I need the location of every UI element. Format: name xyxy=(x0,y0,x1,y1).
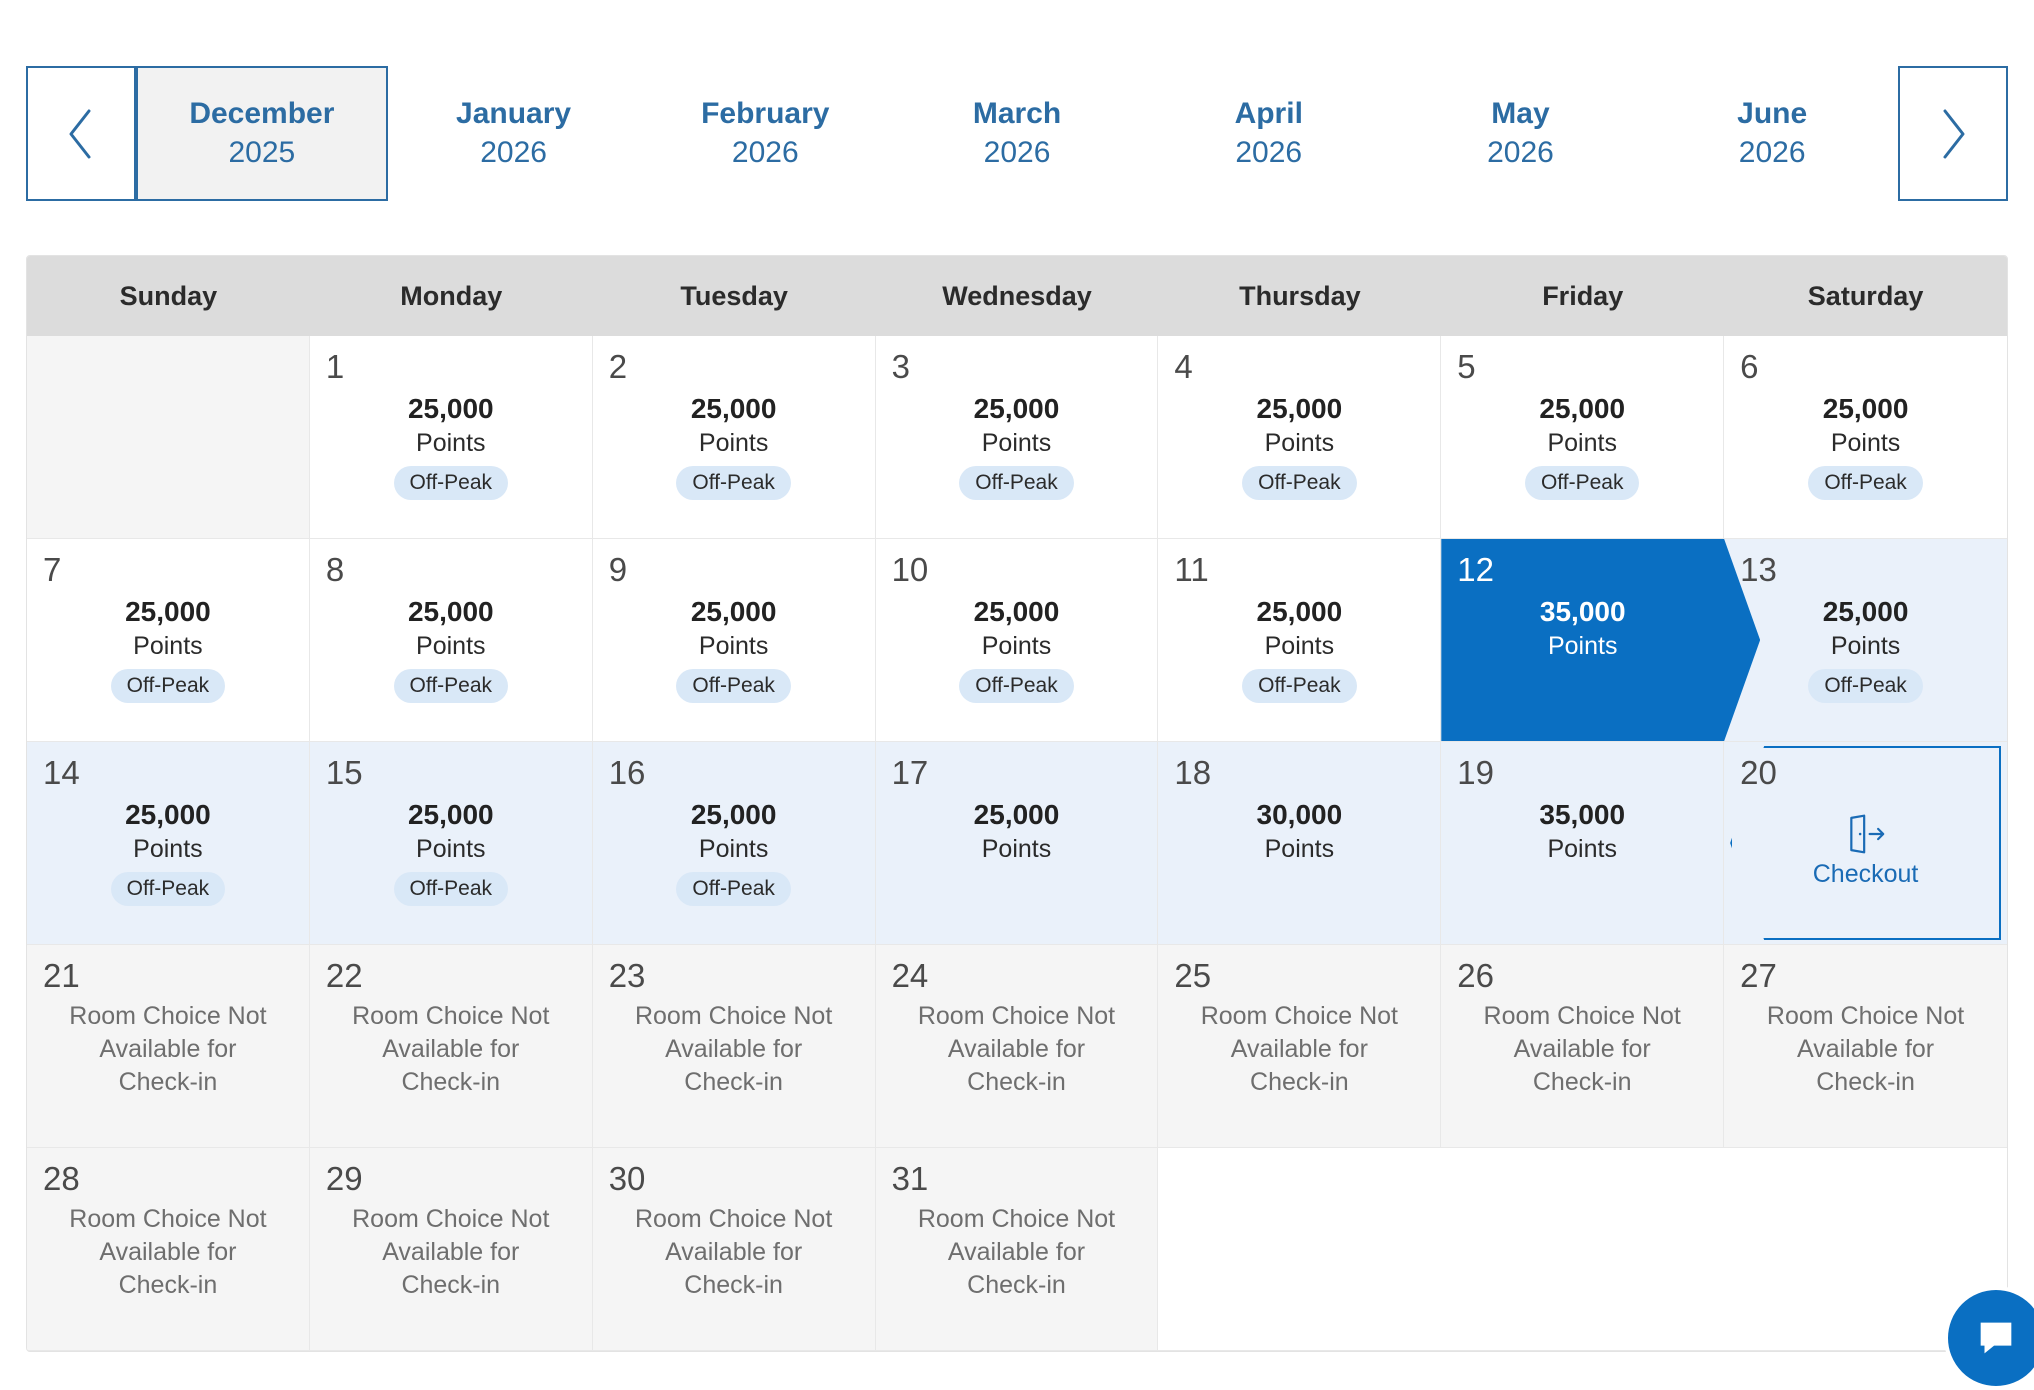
unavailable-message: Room Choice Not Available for Check-in xyxy=(326,1000,576,1099)
month-tab-name: January xyxy=(456,95,571,133)
points-label: Points xyxy=(1265,427,1334,460)
day-cell-8[interactable]: 825,000PointsOff-Peak xyxy=(310,539,593,742)
day-cell-24: 24Room Choice Not Available for Check-in xyxy=(876,945,1159,1148)
day-number: 7 xyxy=(43,553,61,586)
day-cell-5[interactable]: 525,000PointsOff-Peak xyxy=(1441,336,1724,539)
checkout-details: Checkout xyxy=(1740,775,1991,926)
chevron-right-icon xyxy=(1936,107,1970,161)
day-details: 25,000PointsOff-Peak xyxy=(43,789,293,926)
unavailable-message: Room Choice Not Available for Check-in xyxy=(43,1000,293,1099)
day-details: Room Choice Not Available for Check-in xyxy=(1740,992,1991,1129)
unavailable-message: Room Choice Not Available for Check-in xyxy=(1174,1000,1424,1099)
points-label: Points xyxy=(1831,630,1900,663)
off-peak-badge: Off-Peak xyxy=(394,669,508,703)
day-cell-29: 29Room Choice Not Available for Check-in xyxy=(310,1148,593,1351)
day-cell-22: 22Room Choice Not Available for Check-in xyxy=(310,945,593,1148)
month-tab-name: February xyxy=(701,95,829,133)
day-cell-18[interactable]: 1830,000Points xyxy=(1158,742,1441,945)
day-details: Room Choice Not Available for Check-in xyxy=(1457,992,1707,1129)
points-label: Points xyxy=(1265,833,1334,866)
points-value: 25,000 xyxy=(691,594,777,630)
day-number: 29 xyxy=(326,1162,363,1195)
points-label: Points xyxy=(416,630,485,663)
weekday-header-monday: Monday xyxy=(310,256,593,336)
points-label: Points xyxy=(133,833,202,866)
points-label: Points xyxy=(699,630,768,663)
month-tab-year: 2026 xyxy=(984,134,1051,172)
points-value: 25,000 xyxy=(125,797,211,833)
day-number: 9 xyxy=(609,553,627,586)
checkout-door-icon xyxy=(1844,812,1888,856)
day-cell-10[interactable]: 1025,000PointsOff-Peak xyxy=(876,539,1159,742)
day-cell-11[interactable]: 1125,000PointsOff-Peak xyxy=(1158,539,1441,742)
day-number: 17 xyxy=(892,756,929,789)
weekday-header-tuesday: Tuesday xyxy=(593,256,876,336)
points-label: Points xyxy=(1265,630,1334,663)
day-cell-21: 21Room Choice Not Available for Check-in xyxy=(27,945,310,1148)
day-number: 21 xyxy=(43,959,80,992)
points-value: 25,000 xyxy=(1257,594,1343,630)
day-number: 16 xyxy=(609,756,646,789)
month-tab-name: March xyxy=(973,95,1061,133)
points-label: Points xyxy=(133,630,202,663)
day-number: 15 xyxy=(326,756,363,789)
points-value: 25,000 xyxy=(1257,391,1343,427)
day-cell-31: 31Room Choice Not Available for Check-in xyxy=(876,1148,1159,1351)
points-label: Points xyxy=(982,630,1051,663)
month-tab-year: 2026 xyxy=(732,134,799,172)
points-value: 25,000 xyxy=(408,797,494,833)
points-label: Points xyxy=(416,833,485,866)
day-details: Room Choice Not Available for Check-in xyxy=(326,1195,576,1332)
day-number: 22 xyxy=(326,959,363,992)
day-cell-23: 23Room Choice Not Available for Check-in xyxy=(593,945,876,1148)
unavailable-message: Room Choice Not Available for Check-in xyxy=(609,1203,859,1302)
month-tab-february-2026[interactable]: February2026 xyxy=(639,66,891,201)
off-peak-badge: Off-Peak xyxy=(1242,466,1356,500)
off-peak-badge: Off-Peak xyxy=(111,872,225,906)
month-tab-march-2026[interactable]: March2026 xyxy=(891,66,1143,201)
day-details: Room Choice Not Available for Check-in xyxy=(1174,992,1424,1129)
day-number: 19 xyxy=(1457,756,1494,789)
off-peak-badge: Off-Peak xyxy=(1808,669,1922,703)
points-label: Points xyxy=(1831,427,1900,460)
month-tab-year: 2026 xyxy=(480,134,547,172)
day-details: 25,000PointsOff-Peak xyxy=(609,383,859,520)
day-number: 18 xyxy=(1174,756,1211,789)
day-cell-empty xyxy=(27,336,310,539)
weekday-header-friday: Friday xyxy=(1441,256,1724,336)
day-cell-3[interactable]: 325,000PointsOff-Peak xyxy=(876,336,1159,539)
day-cell-2[interactable]: 225,000PointsOff-Peak xyxy=(593,336,876,539)
day-number: 11 xyxy=(1174,553,1208,586)
weekday-header-saturday: Saturday xyxy=(1724,256,2007,336)
day-number: 12 xyxy=(1457,553,1494,586)
checkout-content: 20Checkout xyxy=(1724,742,2007,944)
day-cell-15[interactable]: 1525,000PointsOff-Peak xyxy=(310,742,593,945)
calendar-week-row: 21Room Choice Not Available for Check-in… xyxy=(27,945,2007,1148)
points-value: 35,000 xyxy=(1540,594,1626,630)
off-peak-badge: Off-Peak xyxy=(676,466,790,500)
availability-calendar: SundayMondayTuesdayWednesdayThursdayFrid… xyxy=(26,255,2008,1352)
off-peak-badge: Off-Peak xyxy=(676,669,790,703)
day-cell-20[interactable]: 20Checkout xyxy=(1724,742,2007,945)
day-details: Room Choice Not Available for Check-in xyxy=(43,992,293,1129)
day-cell-28: 28Room Choice Not Available for Check-in xyxy=(27,1148,310,1351)
chat-launcher-button[interactable] xyxy=(1944,1286,2034,1390)
day-details: Room Choice Not Available for Check-in xyxy=(326,992,576,1129)
day-cell-27: 27Room Choice Not Available for Check-in xyxy=(1724,945,2007,1148)
month-tab-year: 2025 xyxy=(228,134,295,172)
day-details: 25,000PointsOff-Peak xyxy=(1740,586,1991,723)
calendar-week-row: 1425,000PointsOff-Peak1525,000PointsOff-… xyxy=(27,742,2007,945)
points-value: 25,000 xyxy=(691,391,777,427)
day-details: Room Choice Not Available for Check-in xyxy=(892,992,1142,1129)
chevron-left-icon xyxy=(64,107,98,161)
points-value: 25,000 xyxy=(1539,391,1625,427)
day-details: 25,000PointsOff-Peak xyxy=(609,789,859,926)
month-tab-year: 2026 xyxy=(1739,134,1806,172)
day-details: 25,000PointsOff-Peak xyxy=(43,586,293,723)
day-number: 23 xyxy=(609,959,646,992)
day-details: 25,000PointsOff-Peak xyxy=(1174,586,1424,723)
day-details: 25,000PointsOff-Peak xyxy=(609,586,859,723)
day-cell-30: 30Room Choice Not Available for Check-in xyxy=(593,1148,876,1351)
checkout-label: Checkout xyxy=(1813,860,1919,889)
month-tab-list: December2025January2026February2026March… xyxy=(136,66,1898,201)
off-peak-badge: Off-Peak xyxy=(959,466,1073,500)
off-peak-badge: Off-Peak xyxy=(394,466,508,500)
day-cell-26: 26Room Choice Not Available for Check-in xyxy=(1441,945,1724,1148)
weekday-header-thursday: Thursday xyxy=(1158,256,1441,336)
day-details: 25,000PointsOff-Peak xyxy=(1740,383,1991,520)
month-tab-name: June xyxy=(1737,95,1807,133)
day-number: 4 xyxy=(1174,350,1192,383)
day-cell-25: 25Room Choice Not Available for Check-in xyxy=(1158,945,1441,1148)
points-label: Points xyxy=(699,833,768,866)
calendar-week-row: 28Room Choice Not Available for Check-in… xyxy=(27,1148,2007,1351)
day-number: 5 xyxy=(1457,350,1475,383)
month-tab-june-2026[interactable]: June2026 xyxy=(1646,66,1898,201)
previous-month-button[interactable] xyxy=(26,66,136,201)
off-peak-badge: Off-Peak xyxy=(959,669,1073,703)
weekday-header-row: SundayMondayTuesdayWednesdayThursdayFrid… xyxy=(27,256,2007,336)
points-label: Points xyxy=(416,427,485,460)
off-peak-badge: Off-Peak xyxy=(111,669,225,703)
month-tab-year: 2026 xyxy=(1235,134,1302,172)
points-label: Points xyxy=(982,427,1051,460)
day-cell-1[interactable]: 125,000PointsOff-Peak xyxy=(310,336,593,539)
off-peak-badge: Off-Peak xyxy=(394,872,508,906)
unavailable-message: Room Choice Not Available for Check-in xyxy=(326,1203,576,1302)
day-details: 25,000PointsOff-Peak xyxy=(892,586,1142,723)
unavailable-message: Room Choice Not Available for Check-in xyxy=(892,1000,1142,1099)
day-number: 2 xyxy=(609,350,627,383)
day-cell-19[interactable]: 1935,000Points xyxy=(1441,742,1724,945)
day-number: 26 xyxy=(1457,959,1494,992)
day-cell-empty xyxy=(1441,1148,1724,1351)
calendar-week-row: 125,000PointsOff-Peak225,000PointsOff-Pe… xyxy=(27,336,2007,539)
calendar-weeks: 125,000PointsOff-Peak225,000PointsOff-Pe… xyxy=(27,336,2007,1351)
calendar-week-row: 725,000PointsOff-Peak825,000PointsOff-Pe… xyxy=(27,539,2007,742)
day-number: 10 xyxy=(892,553,929,586)
chat-bubble-icon xyxy=(1973,1315,2019,1361)
month-tab-year: 2026 xyxy=(1487,134,1554,172)
weekday-header-wednesday: Wednesday xyxy=(876,256,1159,336)
off-peak-badge: Off-Peak xyxy=(1808,466,1922,500)
month-tab-may-2026[interactable]: May2026 xyxy=(1395,66,1647,201)
points-value: 35,000 xyxy=(1539,797,1625,833)
unavailable-message: Room Choice Not Available for Check-in xyxy=(1740,1000,1991,1099)
day-details: 30,000Points xyxy=(1174,789,1424,926)
unavailable-message: Room Choice Not Available for Check-in xyxy=(1457,1000,1707,1099)
day-details: 25,000PointsOff-Peak xyxy=(326,383,576,520)
points-value: 25,000 xyxy=(125,594,211,630)
points-label: Points xyxy=(699,427,768,460)
day-details: Room Choice Not Available for Check-in xyxy=(43,1195,293,1332)
month-tab-january-2026[interactable]: January2026 xyxy=(388,66,640,201)
day-cell-17[interactable]: 1725,000Points xyxy=(876,742,1159,945)
day-cell-4[interactable]: 425,000PointsOff-Peak xyxy=(1158,336,1441,539)
points-label: Points xyxy=(982,833,1051,866)
weekday-header-sunday: Sunday xyxy=(27,256,310,336)
points-value: 25,000 xyxy=(1823,594,1909,630)
day-number: 25 xyxy=(1174,959,1211,992)
day-cell-16[interactable]: 1625,000PointsOff-Peak xyxy=(593,742,876,945)
month-tab-december-2025[interactable]: December2025 xyxy=(136,66,388,201)
points-label: Points xyxy=(1548,630,1617,663)
day-number: 13 xyxy=(1740,553,1777,586)
month-tab-april-2026[interactable]: April2026 xyxy=(1143,66,1395,201)
day-number: 3 xyxy=(892,350,910,383)
day-cell-14[interactable]: 1425,000PointsOff-Peak xyxy=(27,742,310,945)
points-value: 25,000 xyxy=(1823,391,1909,427)
points-label: Points xyxy=(1547,427,1616,460)
day-number: 8 xyxy=(326,553,344,586)
day-details: Room Choice Not Available for Check-in xyxy=(609,1195,859,1332)
points-value: 30,000 xyxy=(1257,797,1343,833)
points-label: Points xyxy=(1547,833,1616,866)
points-value: 25,000 xyxy=(408,594,494,630)
month-tab-name: May xyxy=(1491,95,1549,133)
unavailable-message: Room Choice Not Available for Check-in xyxy=(609,1000,859,1099)
day-cell-13[interactable]: 1325,000PointsOff-Peak xyxy=(1724,539,2007,742)
day-number: 1 xyxy=(326,350,344,383)
month-navigation: December2025January2026February2026March… xyxy=(26,66,2008,201)
points-value: 25,000 xyxy=(974,391,1060,427)
day-details: Room Choice Not Available for Check-in xyxy=(609,992,859,1129)
day-details: 25,000PointsOff-Peak xyxy=(1174,383,1424,520)
day-number: 14 xyxy=(43,756,80,789)
day-details: Room Choice Not Available for Check-in xyxy=(892,1195,1142,1332)
unavailable-message: Room Choice Not Available for Check-in xyxy=(892,1203,1142,1302)
month-tab-name: December xyxy=(189,95,334,133)
off-peak-badge: Off-Peak xyxy=(1525,466,1639,500)
day-number: 27 xyxy=(1740,959,1777,992)
day-details: 35,000Points xyxy=(1457,789,1707,926)
day-number: 31 xyxy=(892,1162,929,1195)
day-number: 24 xyxy=(892,959,929,992)
points-value: 25,000 xyxy=(691,797,777,833)
day-cell-6[interactable]: 625,000PointsOff-Peak xyxy=(1724,336,2007,539)
day-details: 25,000PointsOff-Peak xyxy=(326,586,576,723)
points-value: 25,000 xyxy=(974,797,1060,833)
day-number: 28 xyxy=(43,1162,80,1195)
day-cell-7[interactable]: 725,000PointsOff-Peak xyxy=(27,539,310,742)
points-value: 25,000 xyxy=(408,391,494,427)
day-number: 6 xyxy=(1740,350,1758,383)
next-month-button[interactable] xyxy=(1898,66,2008,201)
day-details: 25,000Points xyxy=(892,789,1142,926)
day-details: 25,000PointsOff-Peak xyxy=(326,789,576,926)
day-details: 25,000PointsOff-Peak xyxy=(892,383,1142,520)
day-details: 25,000PointsOff-Peak xyxy=(1457,383,1707,520)
month-tab-name: April xyxy=(1235,95,1303,133)
unavailable-message: Room Choice Not Available for Check-in xyxy=(43,1203,293,1302)
day-cell-12[interactable]: 1235,000Points xyxy=(1441,539,1724,742)
selected-date-content: 1235,000Points xyxy=(1441,539,1724,741)
day-details: 35,000Points xyxy=(1457,586,1708,723)
day-cell-9[interactable]: 925,000PointsOff-Peak xyxy=(593,539,876,742)
off-peak-badge: Off-Peak xyxy=(676,872,790,906)
off-peak-badge: Off-Peak xyxy=(1242,669,1356,703)
points-value: 25,000 xyxy=(974,594,1060,630)
day-cell-empty xyxy=(1158,1148,1441,1351)
day-number: 30 xyxy=(609,1162,646,1195)
